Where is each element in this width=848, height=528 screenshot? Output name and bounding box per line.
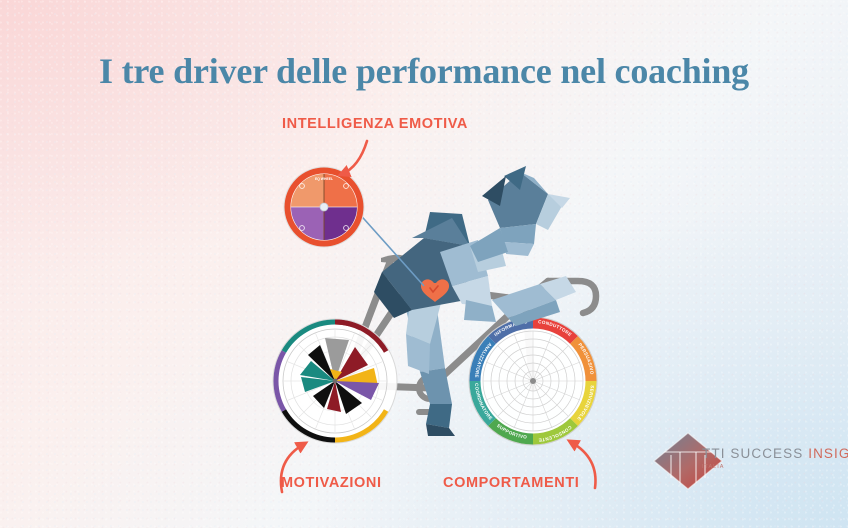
illustration: INFORMATIVO CONDUTTORE PERSUASIVO SERVIZ… xyxy=(0,0,848,528)
logo-mark xyxy=(654,433,722,489)
callout-label-motivazioni: MOTIVAZIONI xyxy=(281,475,382,491)
slide-canvas: I tre driver delle performance nel coach… xyxy=(0,0,848,528)
logo-tti: TTI xyxy=(702,446,726,461)
logo-region: ITALIA xyxy=(702,464,724,470)
logo-wordmark: TTI SUCCESS INSIGHTS® xyxy=(702,446,848,461)
arrow-to-eq-wheel xyxy=(342,141,367,174)
behaviours-wheel: INFORMATIVO CONDUTTORE PERSUASIVO SERVIZ… xyxy=(469,317,597,445)
motivations-wheel xyxy=(273,319,397,443)
logo[interactable]: TTI SUCCESS INSIGHTS® ITALIA xyxy=(654,433,848,489)
callout-label-intelligenza-emotiva: INTELLIGENZA EMOTIVA xyxy=(282,116,468,132)
eq-wheel-caption: EQ WHEEL xyxy=(315,177,333,181)
emotional-intelligence-wheel: EQ WHEEL xyxy=(284,167,364,247)
callout-label-comportamenti: COMPORTAMENTI xyxy=(443,475,579,491)
